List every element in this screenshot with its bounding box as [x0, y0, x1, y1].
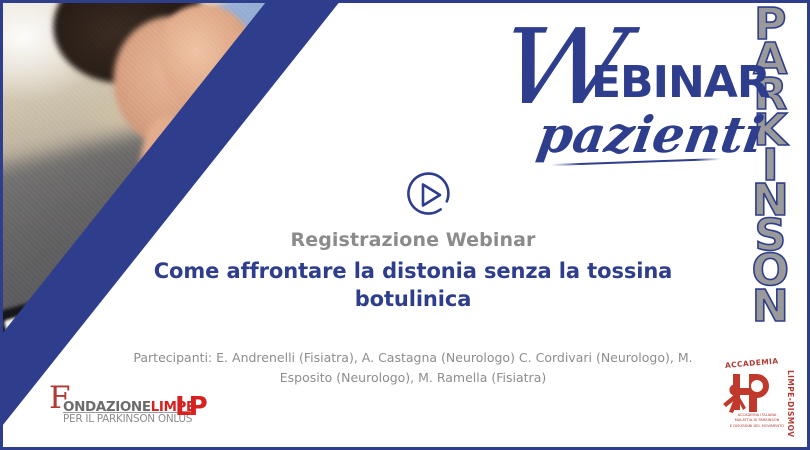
title-block: Registrazione Webinar Come affrontare la… [133, 229, 693, 313]
accademia-fine-line-2: MALATTIA DI PARKINSON [735, 418, 780, 422]
participants-line-1: Partecipanti: E. Andrenelli (Fisiatra), … [133, 350, 673, 365]
webinar-wordmark: W EBINAR pazienti [503, 21, 753, 161]
fondazione-tagline: PER IL PARKINSON ONLUS [63, 413, 192, 425]
eyebrow-label: Registrazione Webinar [133, 229, 693, 251]
participants-text: Partecipanti: E. Andrenelli (Fisiatra), … [113, 348, 713, 389]
accademia-fine-line-1: ACCADEMIA ITALIANA [738, 413, 777, 417]
pazienti-script: pazienti [534, 105, 768, 164]
webinar-block-letters: EBINAR [591, 57, 770, 108]
accademia-figure-icon [719, 370, 781, 414]
fondazione-limpe-logo[interactable]: F ONDAZIONELIMPE PER IL PARKINSON ONLUS … [49, 388, 199, 424]
page-title-line-2: botulinica [355, 287, 472, 311]
page-title-line-1: Come affrontare la distonia senza la tos… [154, 259, 673, 283]
webinar-slide: P A R K I N S O N W EBINAR pazienti Regi… [0, 0, 810, 450]
accademia-side-text: LIMPE-DISMOV [786, 370, 795, 437]
page-title: Come affrontare la distonia senza la tos… [133, 257, 693, 313]
accademia-limpe-dismov-logo[interactable]: ACCADEMIA LIMPE-DISMOV ACCADEMIA ITALIAN… [717, 361, 795, 435]
parkinson-letter: N [752, 289, 789, 324]
limpe-monogram-icon: LP [175, 394, 205, 420]
parkinson-vertical-word: P A R K I N S O N [752, 7, 789, 324]
accademia-fine-line-3: E DISORDINI DEL MOVIMENTO [730, 424, 784, 428]
accademia-fine-print: ACCADEMIA ITALIANA MALATTIA DI PARKINSON… [729, 413, 785, 429]
play-circle-icon[interactable] [402, 169, 454, 221]
